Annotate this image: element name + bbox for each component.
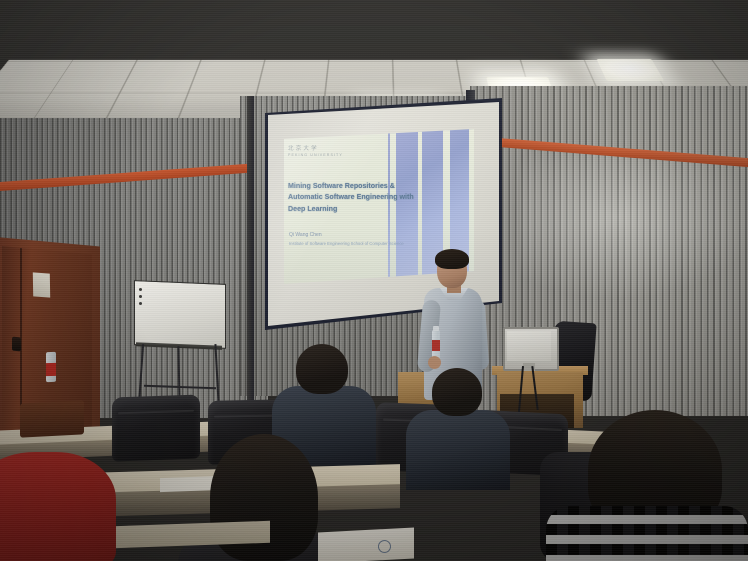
monitor-screen [507, 331, 551, 361]
whiteboard[interactable] [134, 280, 226, 349]
whiteboard-magnet [139, 295, 142, 298]
door-notice-paper [33, 272, 50, 297]
slide-logo-text: 北京大学 [288, 146, 319, 152]
slide-author-name: Qi Wang Chen [289, 232, 322, 238]
whiteboard-magnet [139, 288, 142, 291]
slide-university-logo: 北京大学 PEKING UNIVERSITY [288, 145, 343, 159]
door-handle[interactable] [12, 337, 21, 352]
wooden-chair[interactable] [20, 400, 84, 437]
presenter-hair [435, 249, 469, 269]
attendee-checkered-top-garment [546, 506, 748, 561]
whiteboard-magnet [139, 302, 142, 305]
slide-affiliation: Institute of Software Engineering School… [289, 240, 409, 247]
checkered-pattern [546, 506, 748, 561]
slide-logo-subtext: PEKING UNIVERSITY [288, 153, 343, 158]
water-bottle-cap [433, 326, 439, 331]
paper-stamp-icon [378, 540, 391, 553]
slide-title: Mining Software Repositories & Automatic… [288, 181, 420, 215]
audience-chair[interactable] [112, 394, 200, 461]
lecture-hall-photo: 北京大学 PEKING UNIVERSITY Mining Software R… [0, 0, 748, 561]
attendee-red-jacket [0, 452, 116, 561]
presenter-hand [428, 356, 441, 369]
slide-author: Qi Wang Chen Institute of Software Engin… [289, 231, 409, 247]
water-bottle-label [432, 340, 440, 351]
attendee-dark-jacket-left-head [296, 344, 348, 394]
handout-papers [318, 527, 414, 561]
slide-decor-bar [469, 129, 474, 284]
attendee-dark-jacket-right-body [406, 410, 510, 490]
wall-corner-left [247, 96, 254, 416]
desk-bottle-label [46, 363, 56, 376]
attendee-dark-jacket-right-head [432, 368, 482, 416]
